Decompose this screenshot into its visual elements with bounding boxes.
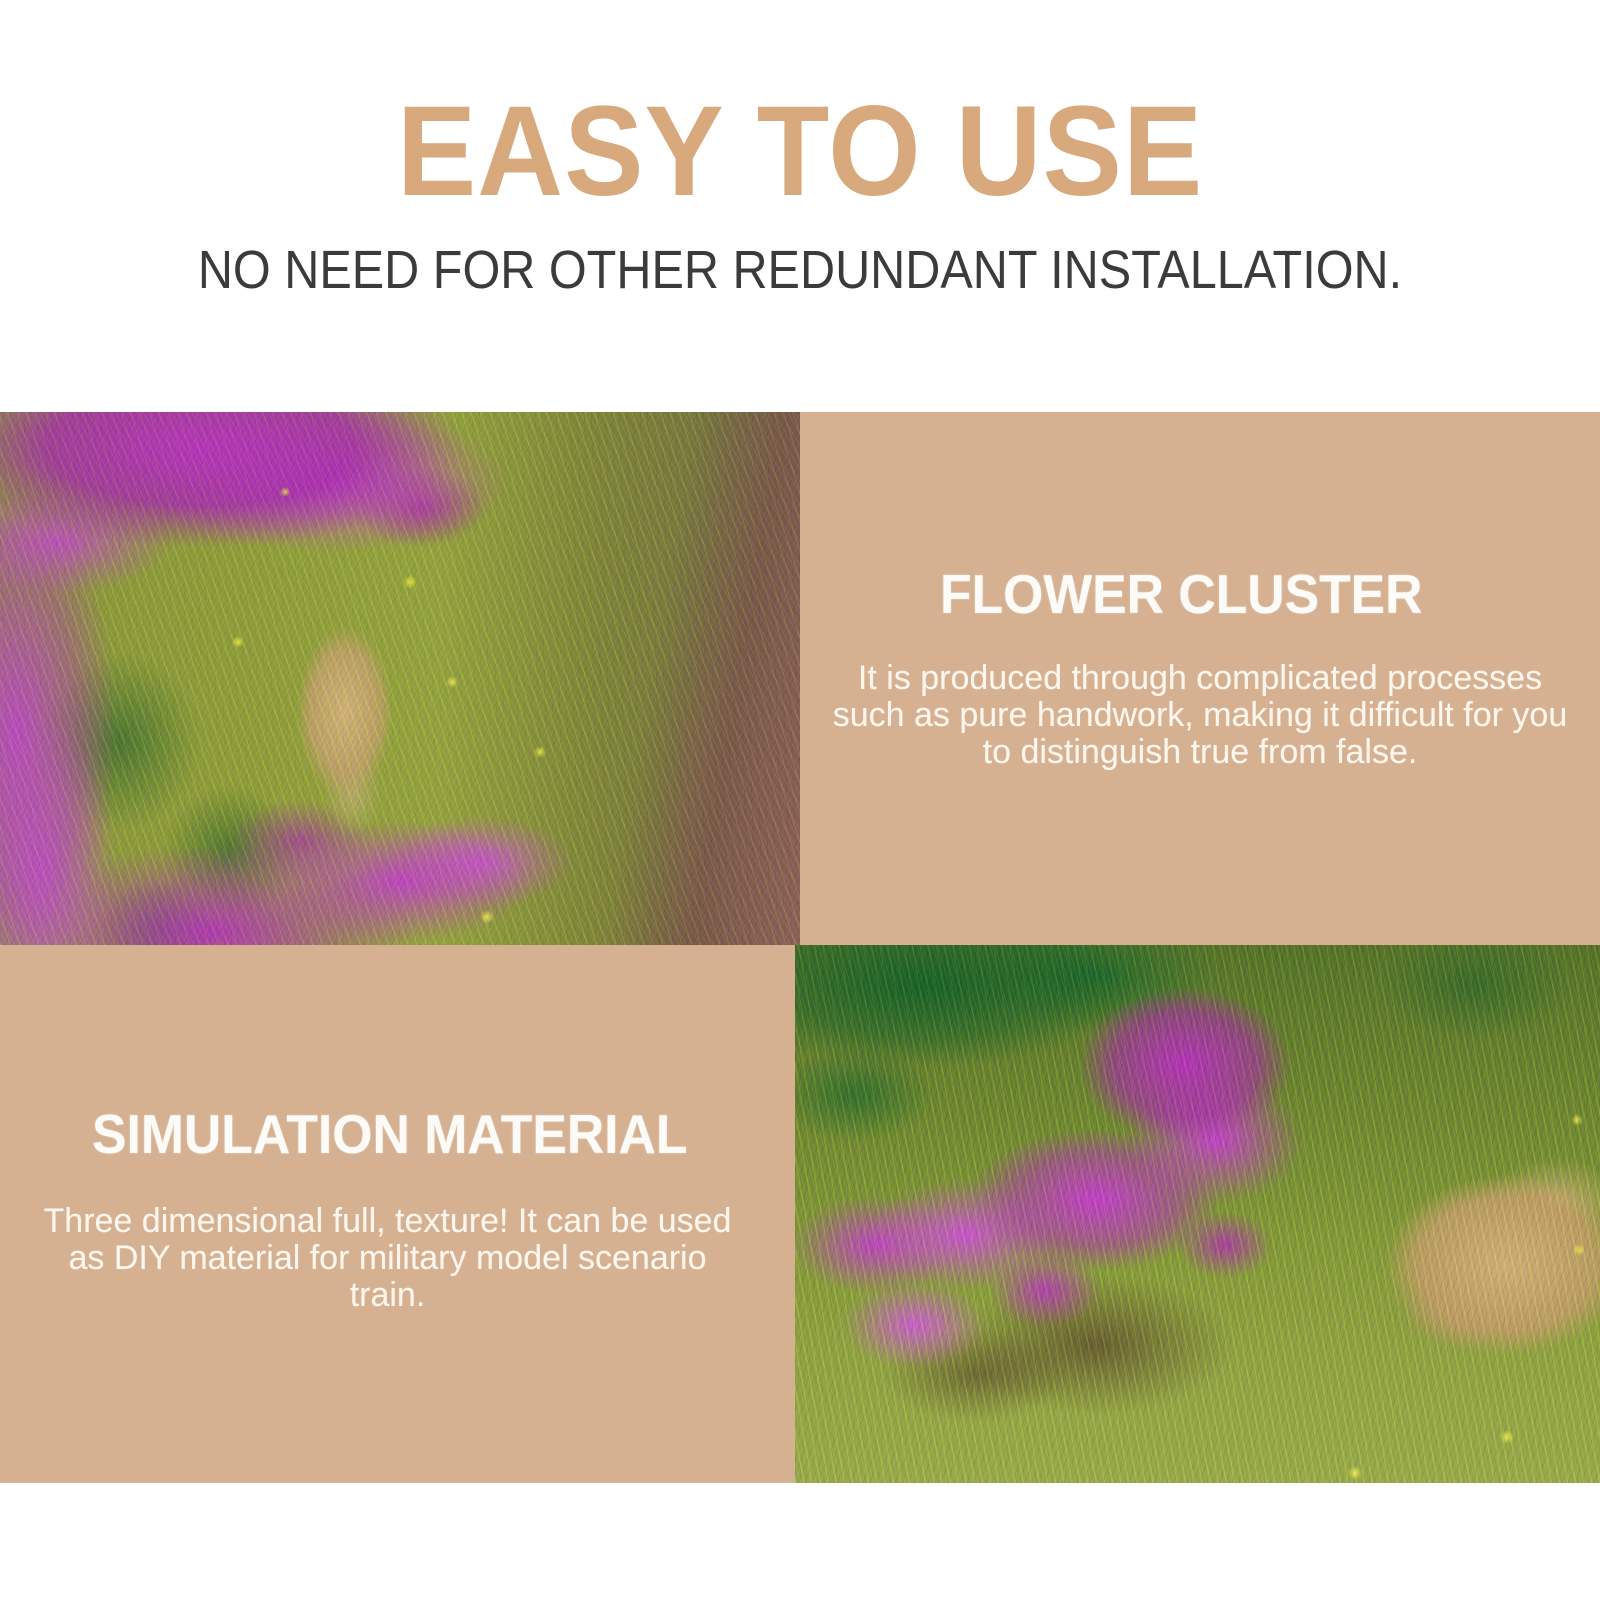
content-grid: FLOWER CLUSTER It is produced through co… — [0, 412, 1600, 1483]
simulation-material-body: Three dimensional full, texture! It can … — [30, 1203, 745, 1314]
flower-cluster-body: It is produced through complicated proce… — [820, 660, 1580, 771]
footer-whitespace — [0, 1483, 1600, 1600]
text-tile-flower-cluster: FLOWER CLUSTER It is produced through co… — [800, 412, 1600, 945]
photo-tile-top-left — [0, 412, 800, 945]
header-section: EASY TO USE NO NEED FOR OTHER REDUNDANT … — [0, 0, 1600, 412]
page-title: EASY TO USE — [56, 88, 1544, 216]
simulation-material-heading: SIMULATION MATERIAL — [92, 1107, 687, 1162]
text-tile-simulation-material: SIMULATION MATERIAL Three dimensional fu… — [0, 945, 795, 1483]
flower-field-photo — [0, 412, 800, 945]
flower-cluster-heading: FLOWER CLUSTER — [940, 567, 1422, 622]
photo-tile-bottom-right — [795, 945, 1600, 1483]
flower-cluster-closeup-photo — [795, 945, 1600, 1483]
page-subtitle: NO NEED FOR OTHER REDUNDANT INSTALLATION… — [80, 243, 1520, 297]
